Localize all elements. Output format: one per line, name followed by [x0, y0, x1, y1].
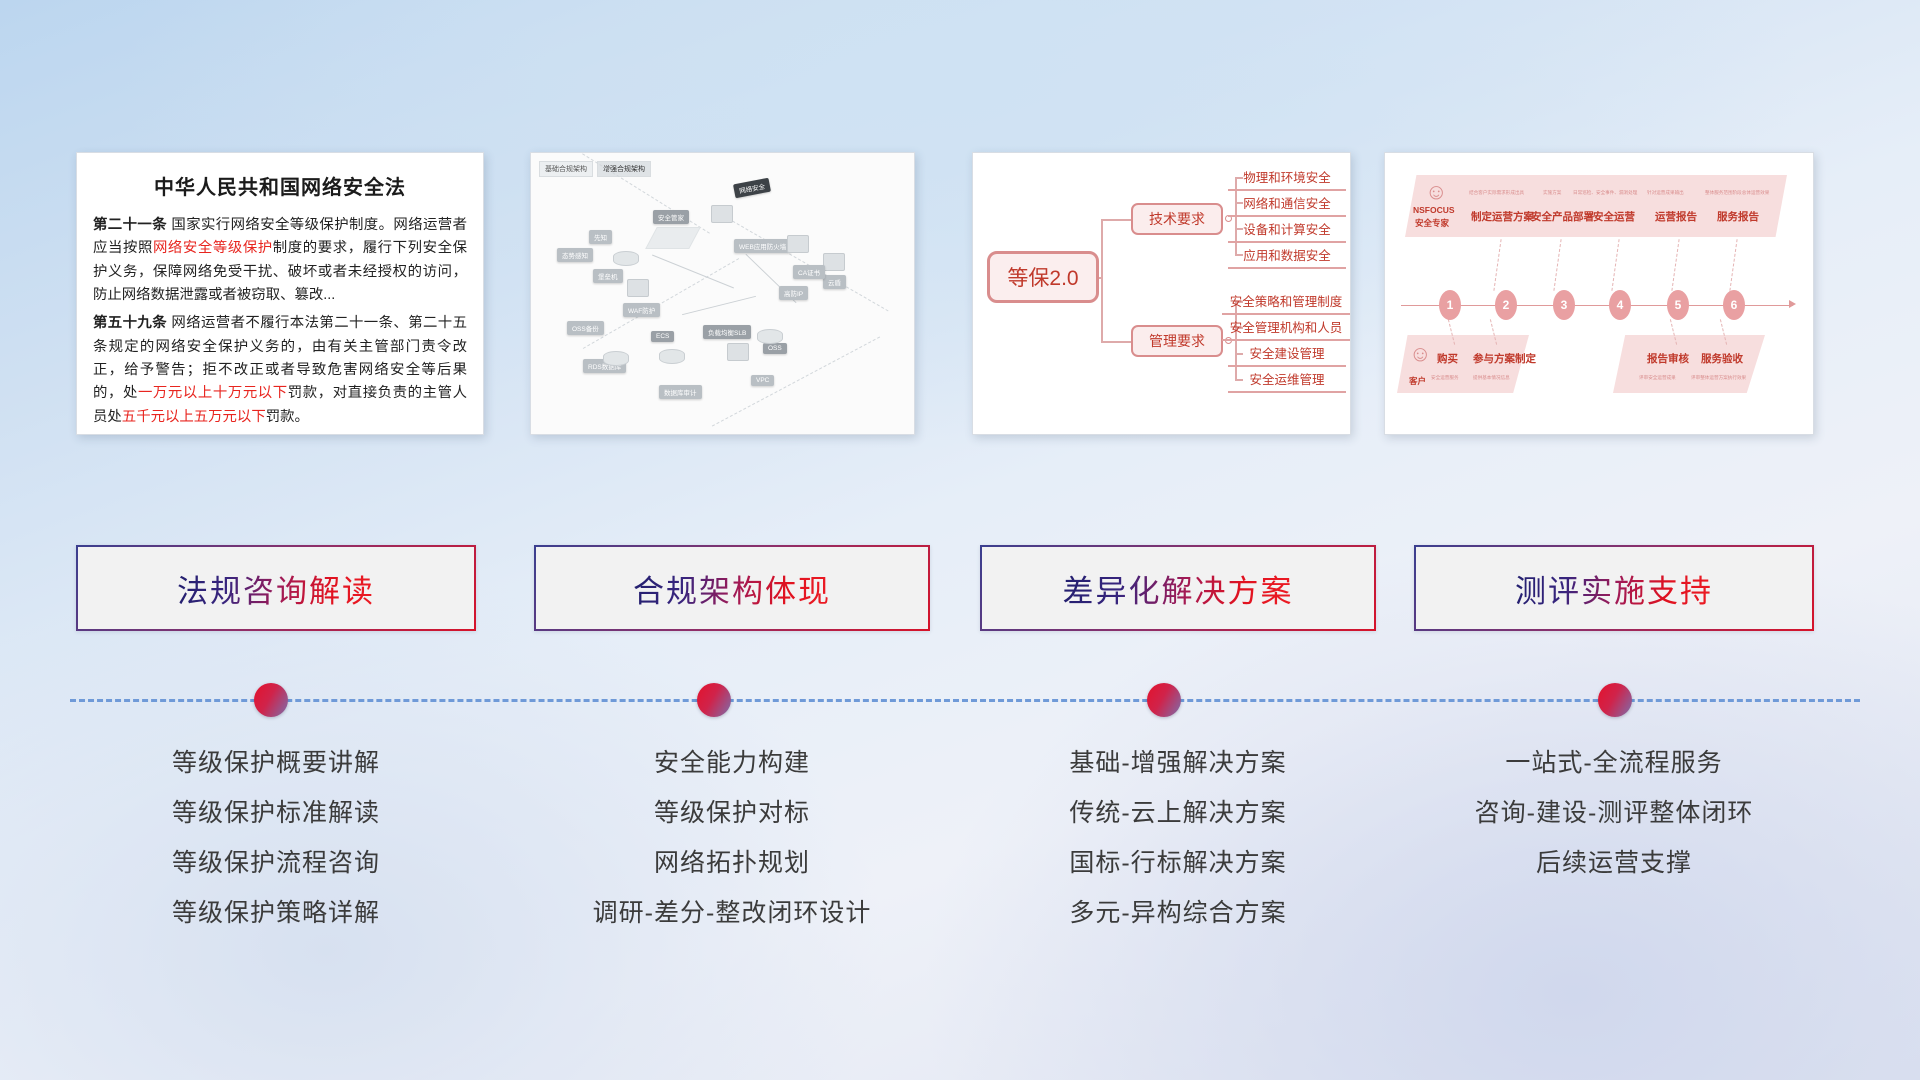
expert-task-label: 运营报告: [1655, 209, 1697, 224]
bullet-item: 后续运营支撑: [1414, 838, 1814, 888]
customer-task-sub: 评审整体运营方案执行效果: [1691, 375, 1746, 381]
card-compliance-architecture[interactable]: 基础合规架构 增强合规架构 网络安全 安全管家 先知 态势感知 堡垒机 WAF防…: [530, 152, 915, 435]
customer-task-label: 购买: [1437, 351, 1458, 366]
roadmap-expert-band: [1405, 175, 1787, 237]
headline-box-differentiated-solution[interactable]: 差异化解决方案: [980, 545, 1376, 631]
bullet-column-compliance-architecture: 安全能力构建 等级保护对标 网络拓扑规划 调研-差分-整改闭环设计: [534, 738, 930, 938]
customer-task-sub: 安全运营服务: [1431, 375, 1459, 381]
architecture-node: CA证书: [793, 265, 825, 279]
expert-task-sub: 日常巡检、安全事件、漏洞处理: [1573, 190, 1637, 196]
bullet-item: 网络拓扑规划: [534, 838, 930, 888]
law-text: 罚款。: [266, 409, 309, 425]
mindmap-branch-management: 管理要求: [1131, 325, 1223, 357]
mindmap-connector: [1101, 219, 1131, 221]
law-highlight: 网络安全等级保护: [153, 240, 273, 256]
law-paragraph: 第二十一条 国家实行网络安全等级保护制度。网络运营者应当按照网络安全等级保护制度…: [93, 214, 467, 307]
bullet-item: 国标-行标解决方案: [980, 838, 1376, 888]
headline-box-compliance-architecture[interactable]: 合规架构体现: [534, 545, 930, 631]
timeline-dot-1[interactable]: [254, 683, 288, 717]
headline-row: 法规咨询解读 合规架构体现 差异化解决方案 测评实施支持: [0, 545, 1920, 645]
expert-task-label: 制定运营方案: [1471, 209, 1534, 224]
customer-role: 客户: [1409, 375, 1426, 387]
roadmap-tick: [1671, 239, 1679, 291]
law-article-number: 第五十九条: [93, 315, 167, 331]
architecture-node: 网络安全: [733, 178, 771, 199]
timeline-dashed-line: [70, 699, 1860, 702]
architecture-box: [627, 279, 649, 297]
customer-task-label: 参与方案制定: [1473, 351, 1536, 366]
architecture-node: 安全管家: [653, 210, 689, 224]
law-highlight: 一万元以上十万元以下: [138, 385, 288, 401]
mindmap-leaf: 应用和数据安全: [1228, 245, 1346, 269]
bullet-item: 等级保护标准解读: [76, 788, 476, 838]
architecture-node: 高防IP: [779, 286, 808, 300]
architecture-cylinder: [757, 329, 783, 344]
bullet-item: 一站式-全流程服务: [1414, 738, 1814, 788]
timeline-dot-3[interactable]: [1147, 683, 1181, 717]
expert-task-sub: 针对运营成果输出: [1647, 190, 1684, 196]
roadmap-tick: [1729, 239, 1737, 291]
mindmap-leaf: 安全建设管理: [1228, 343, 1346, 367]
mindmap-connector: [1099, 277, 1103, 279]
expert-task-sub: 整体服务范围阶段总体运营效果: [1705, 190, 1769, 196]
customer-avatar-icon: ☺: [1409, 343, 1431, 365]
architecture-plate: [645, 227, 701, 249]
roadmap-tick: [1611, 239, 1619, 291]
mindmap-connector: [1101, 341, 1131, 343]
bullet-columns: 等级保护概要讲解 等级保护标准解读 等级保护流程咨询 等级保护策略详解 安全能力…: [0, 738, 1920, 968]
roadmap-arrow-icon: [1789, 300, 1796, 308]
architecture-node: 云盾: [823, 275, 846, 289]
expert-task-label: 安全运营: [1593, 209, 1635, 224]
expert-task-sub: 结合客户实际需求形成出具: [1469, 190, 1524, 196]
architecture-node: WEB应用防火墙: [734, 239, 791, 253]
roadmap-step: 4: [1609, 290, 1631, 320]
mindmap-leaf: 物理和环境安全: [1228, 167, 1346, 191]
bullet-item: 等级保护流程咨询: [76, 838, 476, 888]
timeline: [0, 665, 1920, 735]
architecture-node: WAF防护: [623, 303, 660, 317]
architecture-cylinder: [613, 251, 639, 266]
architecture-node: OSS: [763, 343, 787, 354]
architecture-node: OSS备份: [567, 321, 604, 335]
mindmap-branch-technical: 技术要求: [1131, 203, 1223, 235]
mindmap-leaf: 设备和计算安全: [1228, 219, 1346, 243]
architecture-diagram: 基础合规架构 增强合规架构 网络安全 安全管家 先知 态势感知 堡垒机 WAF防…: [531, 153, 914, 434]
card-dengbao-mindmap[interactable]: 等保2.0 技术要求 管理要求 物理和环境安全 网络和通信安全 设备和计算安全 …: [972, 152, 1351, 435]
mindmap-leaf: 网络和通信安全: [1228, 193, 1346, 217]
expert-task-label: 服务报告: [1717, 209, 1759, 224]
mindmap-root-node: 等保2.0: [987, 251, 1099, 303]
bullet-item: 等级保护概要讲解: [76, 738, 476, 788]
expert-task-sub: 实施方案: [1543, 190, 1561, 196]
card-service-roadmap[interactable]: ☺ NSFOCUS 安全专家 结合客户实际需求形成出具 制定运营方案 实施方案 …: [1384, 152, 1814, 435]
expert-brand: NSFOCUS: [1413, 205, 1455, 215]
mindmap-leaf: 安全策略和管理制度: [1222, 291, 1350, 315]
bullet-item: 多元-异构综合方案: [980, 888, 1376, 938]
thumbnail-card-row: 中华人民共和国网络安全法 第二十一条 国家实行网络安全等级保护制度。网络运营者应…: [0, 0, 1920, 440]
bullet-item: 调研-差分-整改闭环设计: [534, 888, 930, 938]
architecture-node: 先知: [589, 230, 612, 244]
architecture-box: [727, 343, 749, 361]
law-title: 中华人民共和国网络安全法: [77, 171, 483, 200]
roadmap-step: 6: [1723, 290, 1745, 320]
architecture-node: VPC: [751, 375, 774, 386]
headline-box-evaluation-support[interactable]: 测评实施支持: [1414, 545, 1814, 631]
bullet-item: 传统-云上解决方案: [980, 788, 1376, 838]
bullet-column-differentiated-solution: 基础-增强解决方案 传统-云上解决方案 国标-行标解决方案 多元-异构综合方案: [980, 738, 1376, 938]
roadmap-tick: [1553, 239, 1561, 291]
expert-role: 安全专家: [1415, 217, 1449, 229]
bullet-item: 咨询-建设-测评整体闭环: [1414, 788, 1814, 838]
architecture-node: ECS: [651, 331, 674, 342]
roadmap-step: 2: [1495, 290, 1517, 320]
customer-task-label: 报告审核: [1647, 351, 1689, 366]
bullet-item: 安全能力构建: [534, 738, 930, 788]
bullet-item: 等级保护策略详解: [76, 888, 476, 938]
roadmap-diagram: ☺ NSFOCUS 安全专家 结合客户实际需求形成出具 制定运营方案 实施方案 …: [1385, 153, 1813, 434]
architecture-node: 态势感知: [557, 248, 593, 262]
customer-task-label: 服务验收: [1701, 351, 1743, 366]
law-body: 第二十一条 国家实行网络安全等级保护制度。网络运营者应当按照网络安全等级保护制度…: [77, 214, 483, 429]
customer-task-sub: 提供基本情况信息: [1473, 375, 1510, 381]
architecture-link: [682, 296, 756, 315]
card-cybersecurity-law[interactable]: 中华人民共和国网络安全法 第二十一条 国家实行网络安全等级保护制度。网络运营者应…: [76, 152, 484, 435]
architecture-cylinder: [603, 351, 629, 366]
timeline-dot-4[interactable]: [1598, 683, 1632, 717]
bullet-item: 基础-增强解决方案: [980, 738, 1376, 788]
expert-task-label: 安全产品部署: [1531, 209, 1594, 224]
architecture-tabs: 基础合规架构 增强合规架构: [539, 161, 651, 177]
mindmap: 等保2.0 技术要求 管理要求 物理和环境安全 网络和通信安全 设备和计算安全 …: [973, 153, 1350, 434]
expert-avatar-icon: ☺: [1425, 181, 1447, 203]
timeline-dot-2[interactable]: [697, 683, 731, 717]
roadmap-tick: [1493, 239, 1501, 291]
bullet-item: 等级保护对标: [534, 788, 930, 838]
headline-label: 法规咨询解读: [177, 566, 375, 611]
law-paragraph: 第五十九条 网络运营者不履行本法第二十一条、第二十五条规定的网络安全保护义务的，…: [93, 312, 467, 429]
customer-task-sub: 评审安全运营成果: [1639, 375, 1676, 381]
bullet-column-evaluation-support: 一站式-全流程服务 咨询-建设-测评整体闭环 后续运营支撑: [1414, 738, 1814, 888]
mindmap-leaf: 安全管理机构和人员: [1222, 317, 1350, 341]
law-article-number: 第二十一条: [93, 217, 167, 233]
roadmap-step: 3: [1553, 290, 1575, 320]
architecture-tab-basic[interactable]: 基础合规架构: [539, 161, 593, 177]
architecture-box: [787, 235, 809, 253]
mindmap-leaf: 安全运维管理: [1228, 369, 1346, 393]
architecture-node: 数据库审计: [659, 385, 702, 399]
architecture-cylinder: [659, 349, 685, 364]
headline-label: 差异化解决方案: [1063, 566, 1294, 611]
roadmap-step: 1: [1439, 290, 1461, 320]
roadmap-step: 5: [1667, 290, 1689, 320]
architecture-box: [823, 253, 845, 271]
architecture-node: 负载均衡SLB: [703, 325, 751, 339]
bullet-column-regulation-consulting: 等级保护概要讲解 等级保护标准解读 等级保护流程咨询 等级保护策略详解: [76, 738, 476, 938]
architecture-node: 堡垒机: [593, 269, 623, 283]
headline-label: 合规架构体现: [633, 566, 831, 611]
headline-box-regulation-consulting[interactable]: 法规咨询解读: [76, 545, 476, 631]
architecture-box: [711, 205, 733, 223]
headline-label: 测评实施支持: [1515, 566, 1713, 611]
mindmap-connector: [1101, 219, 1103, 341]
law-highlight: 五千元以上五万元以下: [122, 409, 266, 425]
